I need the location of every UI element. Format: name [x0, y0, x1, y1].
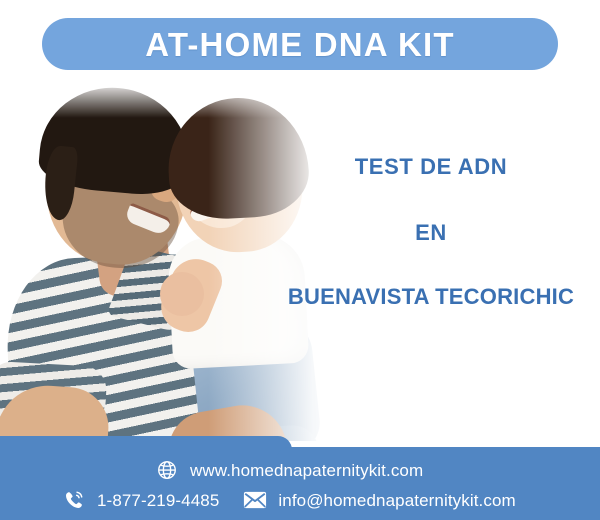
page-title: AT-HOME DNA KIT [145, 28, 454, 61]
footer-website-label: www.homednapaternitykit.com [190, 462, 423, 479]
phone-icon [62, 488, 86, 512]
footer-row-website: www.homednapaternitykit.com [155, 458, 423, 482]
footer: www.homednapaternitykit.com 1-877-219-44… [0, 436, 600, 520]
poster-canvas: AT-HOME DNA KIT TEST DE ADN EN [0, 0, 600, 520]
headline-line-2: EN [262, 221, 600, 245]
headline-line-1: TEST DE ADN [262, 155, 600, 179]
footer-phone[interactable]: 1-877-219-4485 [62, 488, 219, 512]
headline-spacer-1 [262, 179, 600, 221]
child-hand [160, 272, 204, 316]
headline-city: BUENAVISTA TECORICHIC [262, 285, 600, 309]
footer-email-label: info@homednapaternitykit.com [278, 492, 515, 509]
header-title-badge: AT-HOME DNA KIT [42, 18, 558, 70]
footer-email[interactable]: info@homednapaternitykit.com [243, 488, 515, 512]
footer-website[interactable]: www.homednapaternitykit.com [155, 458, 423, 482]
envelope-icon [243, 488, 267, 512]
footer-phone-label: 1-877-219-4485 [97, 492, 219, 509]
headline-block: TEST DE ADN EN BUENAVISTA TECORICHIC [262, 155, 600, 310]
footer-content: www.homednapaternitykit.com 1-877-219-44… [0, 436, 600, 520]
headline-spacer-2 [262, 245, 600, 285]
footer-row-contact: 1-877-219-4485 info@homednapaternitykit.… [62, 488, 516, 512]
globe-icon [155, 458, 179, 482]
